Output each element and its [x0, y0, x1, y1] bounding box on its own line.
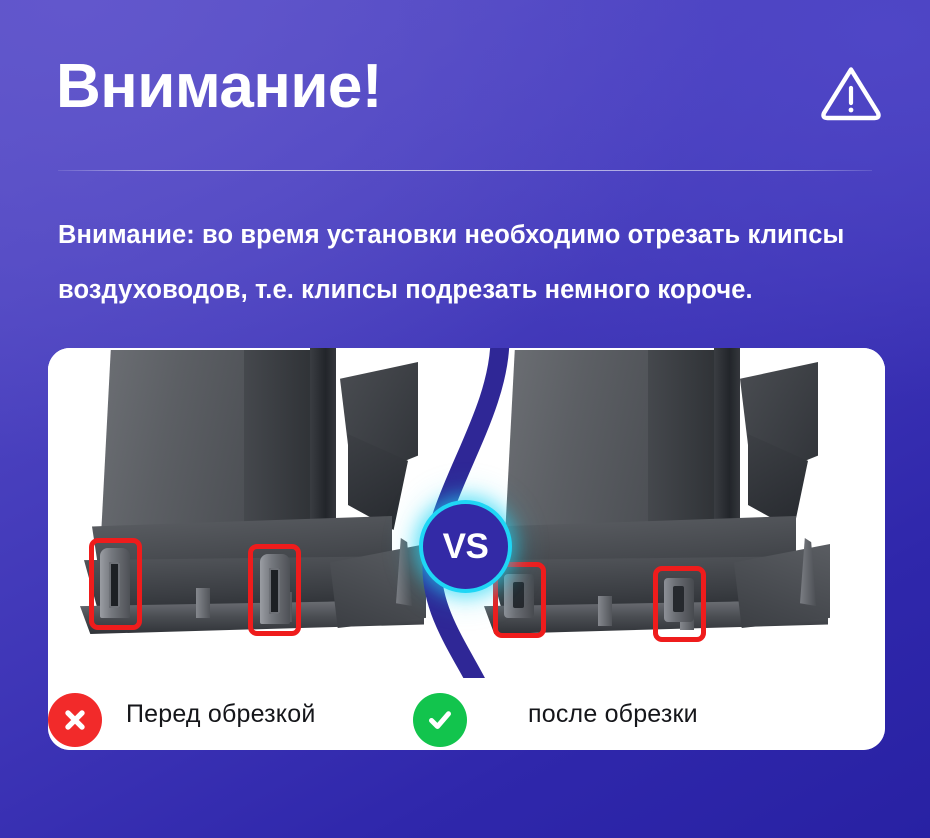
highlight-box-right [653, 566, 706, 642]
label-before: Перед обрезкой [126, 678, 316, 750]
page-title: Внимание! [56, 56, 382, 118]
warning-poster: Внимание! Внимание: во время установки н… [0, 0, 930, 838]
panel-before [48, 348, 468, 678]
label-after: после обрезки [528, 678, 698, 750]
poster-header: Внимание! [0, 0, 930, 172]
highlight-box-right [248, 544, 301, 636]
photo-before [48, 348, 468, 678]
header-divider-rule [58, 170, 872, 171]
warning-body-text: Внимание: во время установки необходимо … [58, 208, 888, 318]
vs-badge: VS [419, 500, 512, 593]
vs-label: VS [443, 529, 489, 564]
photo-after [468, 348, 885, 678]
panel-after [468, 348, 885, 678]
check-circle-icon [413, 693, 467, 747]
highlight-box-left [89, 538, 142, 630]
x-circle-icon [48, 693, 102, 747]
warning-triangle-icon [820, 64, 882, 122]
